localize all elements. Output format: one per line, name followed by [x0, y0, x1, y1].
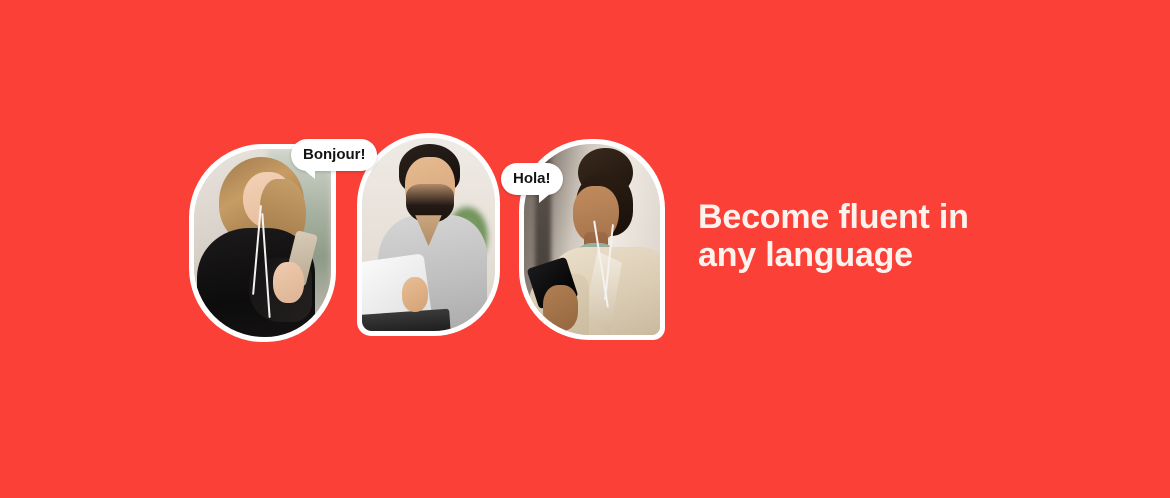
speech-bubble-bonjour: Bonjour!: [291, 139, 377, 171]
speech-bubble-hola: Hola!: [501, 163, 563, 195]
photo-frame: [362, 138, 495, 331]
headline-line-2: any language: [698, 236, 998, 274]
headline-line-1: Become fluent in: [698, 198, 998, 236]
photo-scene: [362, 138, 495, 331]
hand-shape: [543, 285, 578, 331]
language-learning-banner: Bonjour! Hola! Become fluent in any lang…: [0, 0, 1170, 498]
photo-man-laptop: [357, 133, 500, 336]
hand-shape: [273, 262, 303, 303]
hand-shape: [402, 277, 429, 312]
headline: Become fluent in any language: [698, 198, 998, 274]
photo-cluster: Bonjour! Hola!: [0, 0, 690, 498]
